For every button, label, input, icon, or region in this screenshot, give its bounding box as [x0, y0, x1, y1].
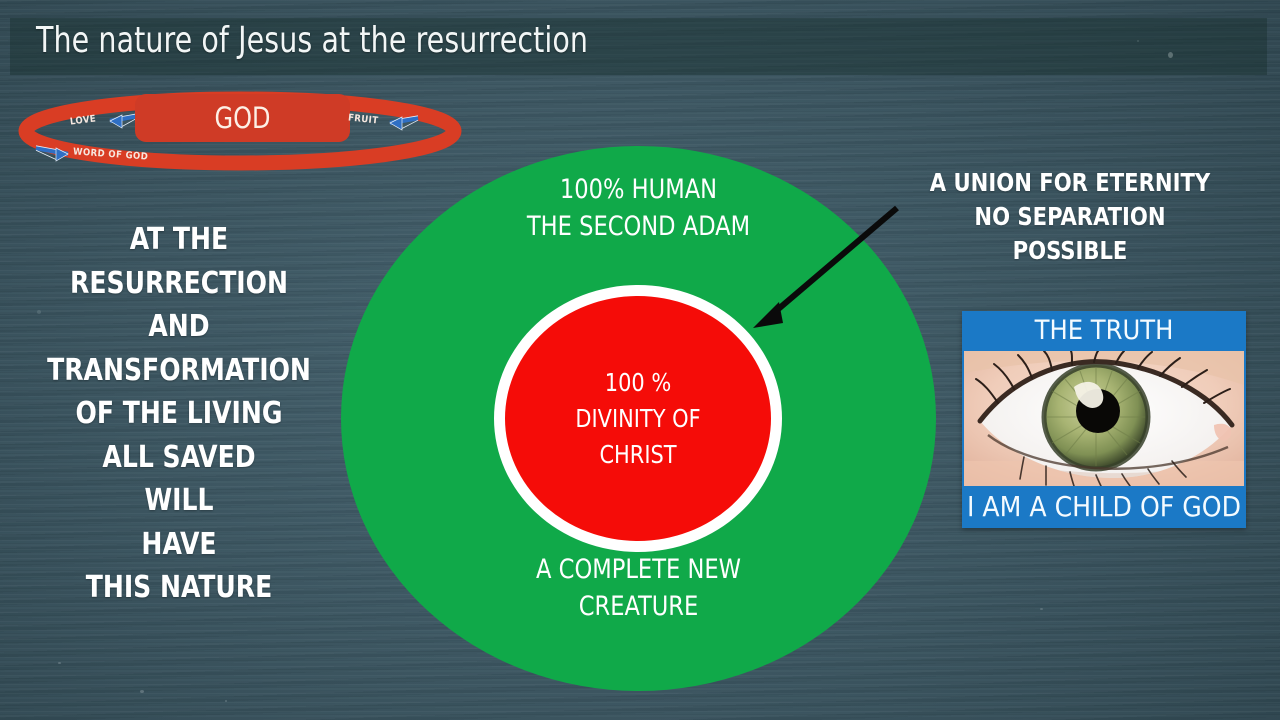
left-statement-line: TRANSFORMATION [26, 349, 333, 393]
truth-card-header: THE TRUTH [962, 311, 1246, 351]
green-eye-photo [964, 351, 1244, 486]
red-circle-line: DIVINITY OF [514, 401, 761, 437]
page-title: The nature of Jesus at the resurrection [36, 20, 588, 61]
left-statement-line: AT THE [26, 218, 333, 262]
left-statement-line: AND [26, 305, 333, 349]
red-circle-divinity: 100 % DIVINITY OF CHRIST [494, 285, 782, 552]
left-statement-line: ALL SAVED [26, 436, 333, 480]
green-circle-top-line: 100% HUMAN [362, 171, 915, 208]
union-note-line: NO SEPARATION [891, 200, 1248, 234]
green-circle-bottom-line: CREATURE [362, 588, 915, 625]
background-speck [58, 662, 61, 664]
left-statement-line: WILL [26, 479, 333, 523]
union-note: A UNION FOR ETERNITY NO SEPARATION POSSI… [891, 166, 1248, 268]
truth-card: THE TRUTH [962, 311, 1246, 528]
background-speck [1040, 608, 1043, 610]
green-circle-bottom-line: A COMPLETE NEW [362, 551, 915, 588]
red-circle-line: CHRIST [514, 437, 761, 473]
god-box: GOD [135, 94, 350, 142]
red-circle-text: 100 % DIVINITY OF CHRIST [514, 365, 761, 473]
left-statement-line: HAVE [26, 523, 333, 567]
left-statement: AT THE RESURRECTION AND TRANSFORMATION O… [26, 218, 333, 610]
green-circle-bottom-text: A COMPLETE NEW CREATURE [362, 551, 915, 625]
god-ring-diagram: GOD LOVE FRUIT WORD OF GOD [18, 88, 478, 173]
left-statement-line: THIS NATURE [26, 566, 333, 610]
eye-illustration [964, 351, 1244, 486]
left-statement-line: RESURRECTION [26, 262, 333, 306]
red-circle-line: 100 % [514, 365, 761, 401]
background-speck [225, 700, 227, 702]
background-speck [140, 690, 144, 693]
union-note-line: A UNION FOR ETERNITY [891, 166, 1248, 200]
green-circle-human: 100% HUMAN THE SECOND ADAM 100 % DIVINIT… [341, 146, 936, 691]
left-statement-line: OF THE LIVING [26, 392, 333, 436]
green-circle-top-line: THE SECOND ADAM [362, 208, 915, 245]
god-label: GOD [144, 94, 342, 142]
green-circle-top-text: 100% HUMAN THE SECOND ADAM [362, 171, 915, 245]
truth-card-footer: I AM A CHILD OF GOD [962, 486, 1246, 528]
union-note-line: POSSIBLE [891, 234, 1248, 268]
slide-canvas: The nature of Jesus at the resurrection [0, 0, 1280, 720]
